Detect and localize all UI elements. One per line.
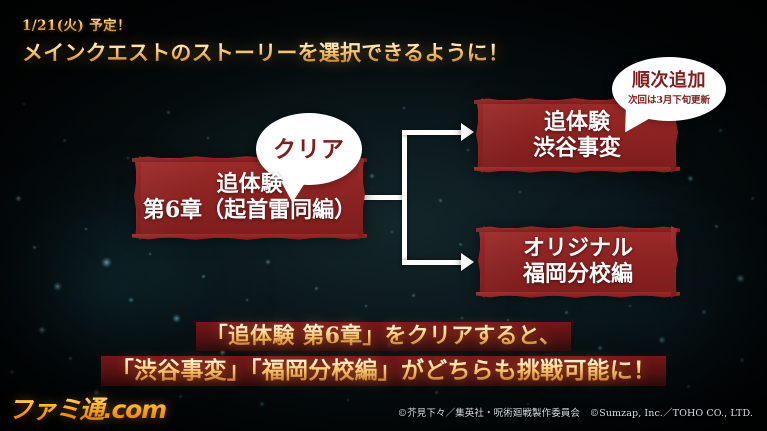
source-banner-line1: 追体験 bbox=[216, 172, 282, 198]
header: 1/21(火) 予定！ メインクエストのストーリーを選択できるように！ bbox=[22, 14, 509, 67]
add-bubble-main-label: 順次追加 bbox=[632, 72, 706, 91]
connector-branch-bottom bbox=[402, 260, 464, 265]
caption-highlight-band: 「渋谷事変」「福岡分校編」がどちらも挑戦可能に！ bbox=[101, 356, 666, 386]
connector-trunk bbox=[402, 132, 407, 265]
branch-bottom-line1: オリジナル bbox=[523, 236, 633, 262]
bottom-caption: 「追体験 第6章」をクリアすると、 「渋谷事変」「福岡分校編」がどちらも挑戦可能… bbox=[0, 322, 767, 391]
header-headline: メインクエストのストーリーを選択できるように！ bbox=[22, 37, 509, 67]
slide-canvas: 1/21(火) 予定！ メインクエストのストーリーを選択できるように！ 追体験 … bbox=[0, 0, 767, 431]
header-date-note: 1/21(火) 予定！ bbox=[22, 14, 509, 34]
caption-line-2-text: 「渋谷事変」「福岡分校編」がどちらも挑戦可能に！ bbox=[111, 357, 656, 384]
clear-bubble-label: クリア bbox=[273, 138, 345, 161]
branch-top-line2: 渋谷事変 bbox=[533, 136, 621, 162]
caption-line-2: 「渋谷事変」「福岡分校編」がどちらも挑戦可能に！ bbox=[101, 356, 666, 386]
branch-bottom-line2: 福岡分校編 bbox=[523, 262, 633, 288]
branch-top-line1: 追体験 bbox=[544, 110, 610, 136]
arrow-bottom-icon bbox=[461, 253, 474, 271]
arrow-top-icon bbox=[461, 123, 474, 141]
sequential-add-speech-bubble: 順次追加 次回は3月下旬更新 bbox=[612, 57, 726, 121]
branch-bottom-banner[interactable]: オリジナル 福岡分校編 bbox=[480, 228, 676, 296]
copyright-notice: ©芥見下々／集英社・呪術廻戦製作委員会 ©Sumzap, Inc.／TOHO C… bbox=[398, 405, 753, 419]
connector-branch-top bbox=[402, 130, 464, 135]
caption-line-1-text: 「追体験 第6章」をクリアすると、 bbox=[206, 323, 562, 349]
caption-highlight-band: 「追体験 第6章」をクリアすると、 bbox=[196, 322, 572, 351]
famitsu-watermark-logo: ファミ通.com bbox=[8, 390, 166, 426]
caption-line-1: 「追体験 第6章」をクリアすると、 bbox=[196, 322, 572, 351]
source-banner-line2: 第6章（起首雷同編） bbox=[143, 198, 356, 224]
add-bubble-sub-label: 次回は3月下旬更新 bbox=[628, 92, 710, 106]
